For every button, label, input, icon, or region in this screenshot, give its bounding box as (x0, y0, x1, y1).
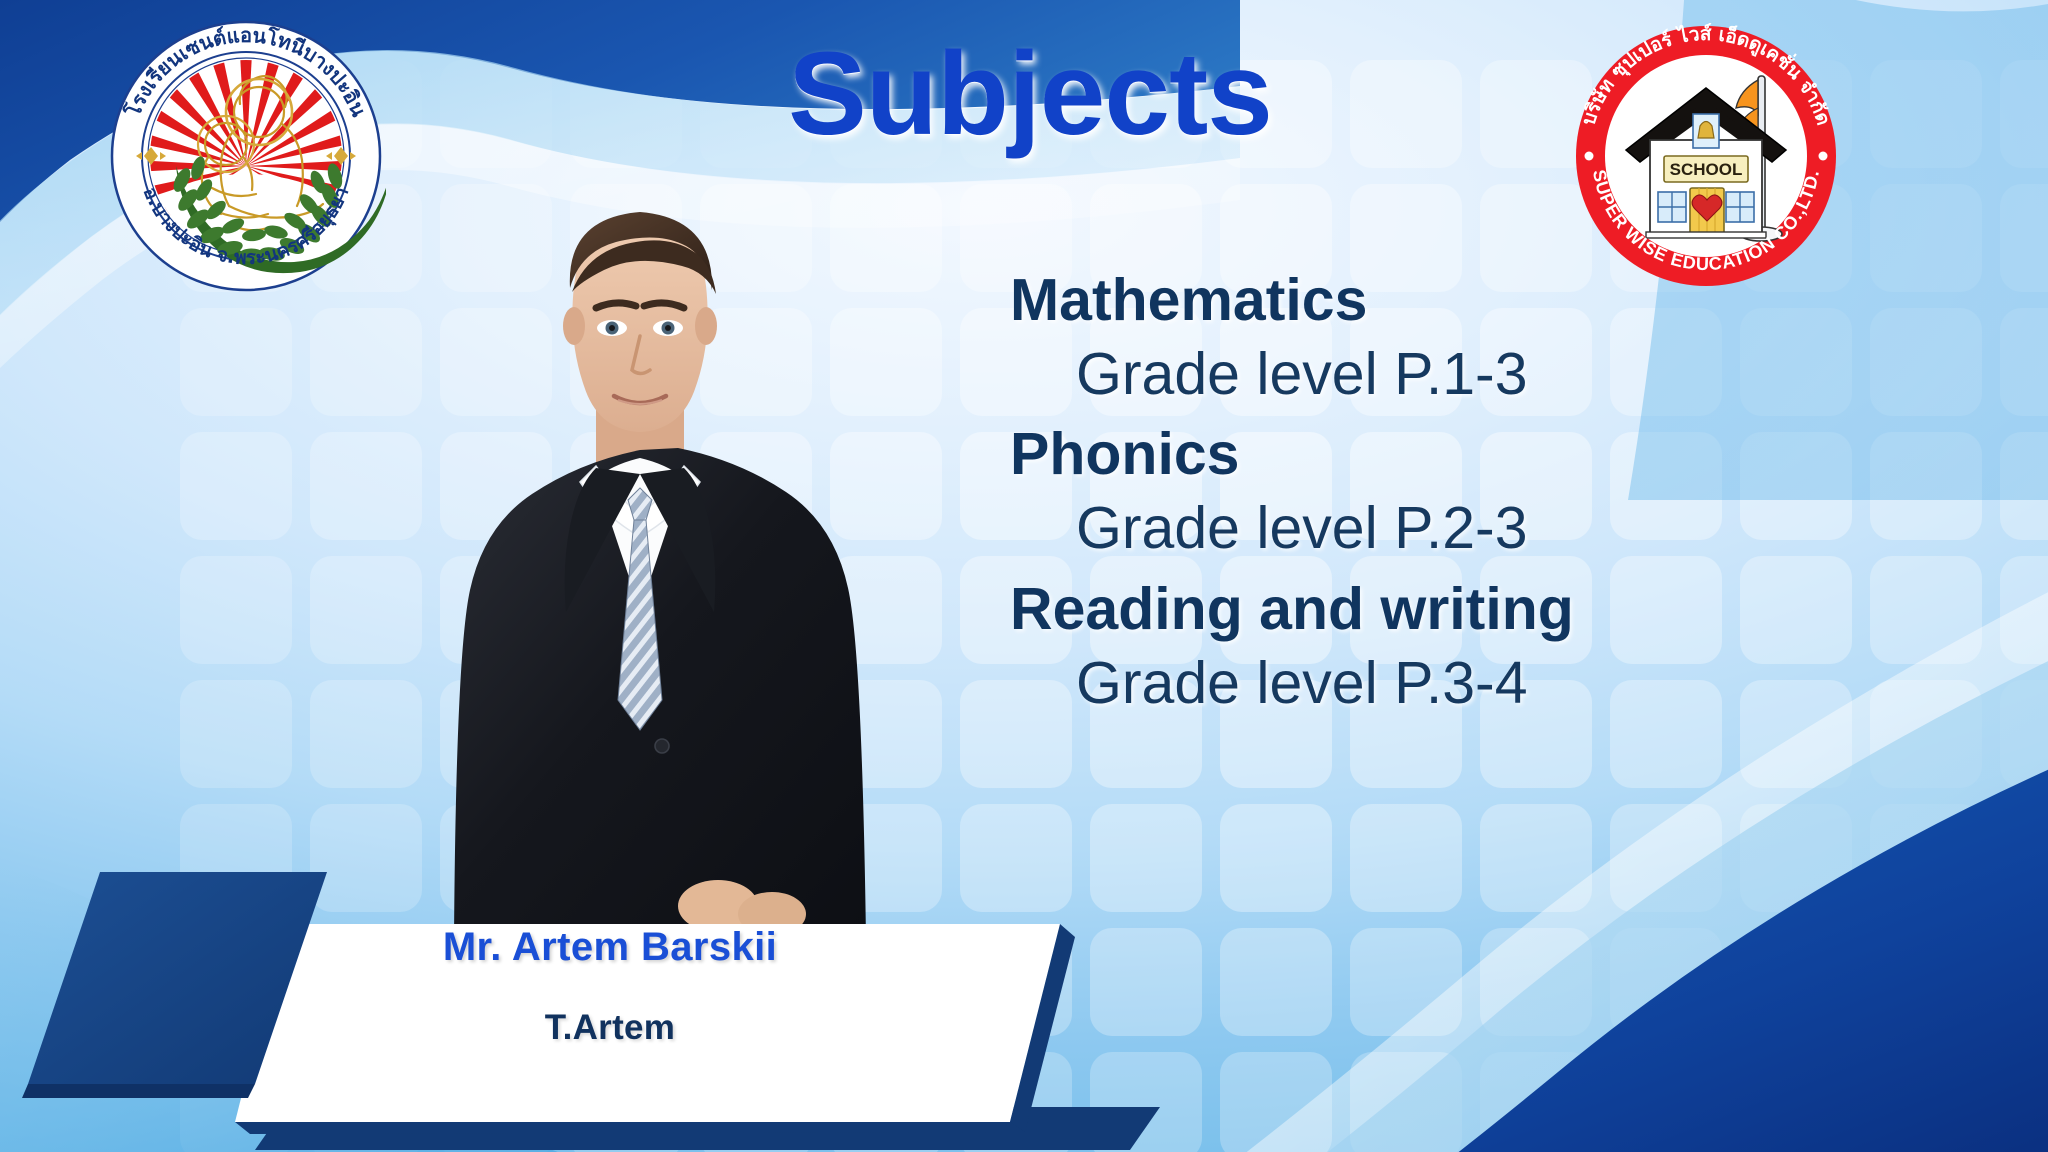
grid-cell (2000, 928, 2048, 1036)
grid-cell (1350, 1052, 1462, 1152)
subject-grade: Grade level P.3-4 (1010, 646, 1810, 720)
grid-cell (2000, 184, 2048, 292)
grid-cell (180, 432, 292, 540)
banner-bottom-edge (235, 1122, 1025, 1134)
school-sign-text: SCHOOL (1670, 160, 1743, 179)
grid-cell (1220, 928, 1332, 1036)
grid-cell (1610, 928, 1722, 1036)
teacher-portrait (400, 150, 880, 940)
page-title: Subjects (700, 26, 1360, 162)
grid-cell (2000, 680, 2048, 788)
grid-cell (1870, 60, 1982, 168)
super-wise-education-logo-right: SCHOOL บริษัท ซุปเปอร์ ไวส์ เอ็ดดูเคชั (1572, 22, 1840, 290)
subject-grade: Grade level P.1-3 (1010, 337, 1810, 411)
subject-grade: Grade level P.2-3 (1010, 491, 1810, 565)
grid-cell (1740, 804, 1852, 912)
grid-cell (1350, 928, 1462, 1036)
grid-cell (2000, 60, 2048, 168)
grid-cell (1870, 1052, 1982, 1152)
grid-cell (1480, 1052, 1592, 1152)
grid-cell (2000, 1052, 2048, 1152)
school-seal-logo-left: โรงเรียนเซนต์แอนโทนีบางปะอิน อ.บางปะอิน … (106, 16, 386, 296)
grid-cell (2000, 556, 2048, 664)
grid-cell (1350, 60, 1462, 168)
grid-cell (1220, 1052, 1332, 1152)
grid-cell (1870, 308, 1982, 416)
subject-name: Phonics (1010, 419, 1810, 491)
grid-cell (1870, 928, 1982, 1036)
grid-cell (2000, 432, 2048, 540)
grid-cell (1220, 804, 1332, 912)
grid-cell (1740, 1052, 1852, 1152)
grid-cell (1740, 928, 1852, 1036)
subjects-poster: โรงเรียนเซนต์แอนโทนีบางปะอิน อ.บางปะอิน … (0, 0, 2048, 1152)
grid-cell (1870, 556, 1982, 664)
grid-cell (1870, 432, 1982, 540)
subject-name: Reading and writing (1010, 574, 1810, 646)
grid-cell (180, 556, 292, 664)
grid-cell (1610, 1052, 1722, 1152)
subject-item: Phonics Grade level P.2-3 (1010, 419, 1810, 565)
grid-cell (180, 308, 292, 416)
grid-cell (1350, 804, 1462, 912)
subjects-list: Mathematics Grade level P.1-3 Phonics Gr… (1010, 265, 1810, 728)
grid-cell (1870, 680, 1982, 788)
teacher-full-name: Mr. Artem Barskii (300, 925, 920, 970)
subject-item: Reading and writing Grade level P.3-4 (1010, 574, 1810, 720)
grid-cell (1480, 928, 1592, 1036)
grid-cell (1870, 184, 1982, 292)
grid-cell (2000, 804, 2048, 912)
banner-navy-accent-shadow (22, 1084, 255, 1098)
subject-name: Mathematics (1010, 265, 1810, 337)
grid-cell (1610, 804, 1722, 912)
grid-cell (1870, 804, 1982, 912)
subject-item: Mathematics Grade level P.1-3 (1010, 265, 1810, 411)
teacher-nickname: T.Artem (300, 1008, 920, 1048)
grid-cell (2000, 308, 2048, 416)
grid-cell (180, 680, 292, 788)
grid-cell (1480, 804, 1592, 912)
banner-text-block: Mr. Artem Barskii T.Artem (300, 925, 920, 1048)
